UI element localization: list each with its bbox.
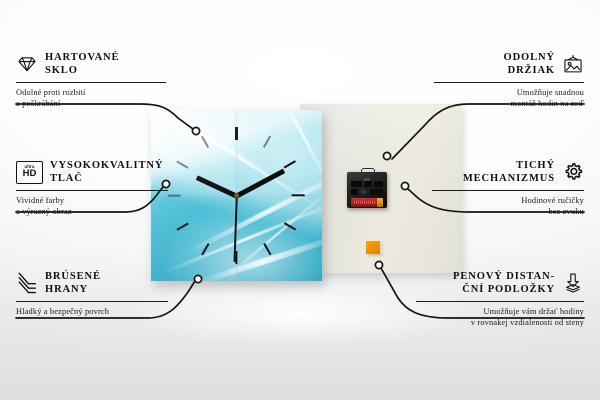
hour-marker: [263, 243, 272, 255]
clock-face: [151, 110, 322, 281]
mechanism-dial: [360, 188, 367, 195]
minute-hand: [235, 168, 285, 197]
feature-divider: [434, 82, 584, 83]
mechanism-vent: [351, 189, 358, 195]
feature-description: Hladký a bezpečný povrch: [16, 306, 168, 317]
feature-divider: [16, 82, 166, 83]
feature-high-quality-print: ultra HD VYSOKOKVALITNÝ TLAČ Vividné far…: [16, 157, 168, 217]
feature-durable-hanger: ODOLNÝ DRŽIAK Umožňuje snadnou montáž ho…: [434, 49, 584, 109]
feature-polished-edges: BRÚSENÉ HRANY Hladký a bezpečný povrch: [16, 268, 168, 317]
foam-spacer-pad-edge: [380, 243, 383, 256]
feature-heading: HARTOVANÉ SKLO: [16, 49, 166, 79]
diagonal-lines-icon: [16, 272, 38, 294]
diamond-icon: [16, 53, 38, 75]
clock-center-cap: [234, 193, 239, 198]
feature-heading: BRÚSENÉ HRANY: [16, 268, 168, 298]
feature-divider: [16, 190, 168, 191]
feature-divider: [16, 301, 168, 302]
infographic-canvas: HARTOVANÉ SKLO Odolné proti rozbití a po…: [0, 0, 600, 400]
hour-marker: [201, 243, 210, 255]
feature-title: PENOVÝ DISTAN- ČNÍ PODLOŽKY: [453, 270, 555, 297]
foam-spacer-pad: [366, 241, 380, 254]
feature-heading: PENOVÝ DISTAN- ČNÍ PODLOŽKY: [416, 268, 584, 298]
feature-description: Umožňuje snadnou montáž hodin na zeď: [434, 87, 584, 109]
feature-description: Vividné farby a výrazný obraz: [16, 195, 168, 217]
down-arrow-pad-icon: [562, 272, 584, 294]
feature-title: VYSOKOKVALITNÝ TLAČ: [50, 159, 163, 186]
mechanism-body: [347, 172, 387, 208]
battery-positive-tip: [377, 198, 383, 207]
hour-marker: [177, 160, 189, 169]
mechanism-vent: [364, 181, 372, 187]
feature-divider: [432, 190, 584, 191]
feature-description: Hodinové ručičky bez zvuku: [432, 195, 584, 217]
feature-description: Odolné proti rozbití a poškrábání: [16, 87, 166, 109]
hour-marker: [263, 136, 272, 148]
hour-marker: [201, 136, 210, 148]
feature-heading: TICHÝ MECHANIZMUS: [432, 157, 584, 187]
feature-heading: ODOLNÝ DRŽIAK: [434, 49, 584, 79]
feature-description: Umožňuje vám držať hodiny v rovnakej vzd…: [416, 306, 584, 328]
hd-badge-big-text: HD: [23, 169, 37, 179]
hour-hand: [195, 174, 237, 197]
mechanism-vent: [370, 189, 383, 195]
gear-icon: [562, 161, 584, 183]
hour-marker: [168, 194, 181, 196]
battery-label-stripe: [354, 201, 375, 204]
mechanism-vent: [351, 181, 362, 187]
hour-marker: [284, 160, 296, 169]
feature-silent-mechanism: TICHÝ MECHANIZMUS Hodinové ručičky bez z…: [432, 157, 584, 217]
ultra-hd-badge-icon: ultra HD: [16, 161, 43, 184]
hour-marker: [284, 222, 296, 231]
feature-title: ODOLNÝ DRŽIAK: [504, 51, 556, 78]
hour-marker: [177, 222, 189, 231]
mechanism-battery: [351, 198, 383, 207]
feature-title: TICHÝ MECHANIZMUS: [463, 159, 555, 186]
feature-title: HARTOVANÉ SKLO: [45, 51, 119, 78]
picture-frame-hanger-icon: [562, 53, 584, 75]
feature-foam-spacers: PENOVÝ DISTAN- ČNÍ PODLOŽKY Umožňuje vám…: [416, 268, 584, 328]
feature-tempered-glass: HARTOVANÉ SKLO Odolné proti rozbití a po…: [16, 49, 166, 109]
mechanism-vent: [374, 181, 383, 187]
feature-divider: [416, 301, 584, 302]
clock-mechanism: [347, 168, 387, 208]
feature-title: BRÚSENÉ HRANY: [45, 270, 101, 297]
feature-heading: ultra HD VYSOKOKVALITNÝ TLAČ: [16, 157, 168, 187]
hour-marker: [235, 127, 237, 140]
glass-wall-clock: [151, 110, 322, 281]
hour-marker: [292, 194, 305, 196]
